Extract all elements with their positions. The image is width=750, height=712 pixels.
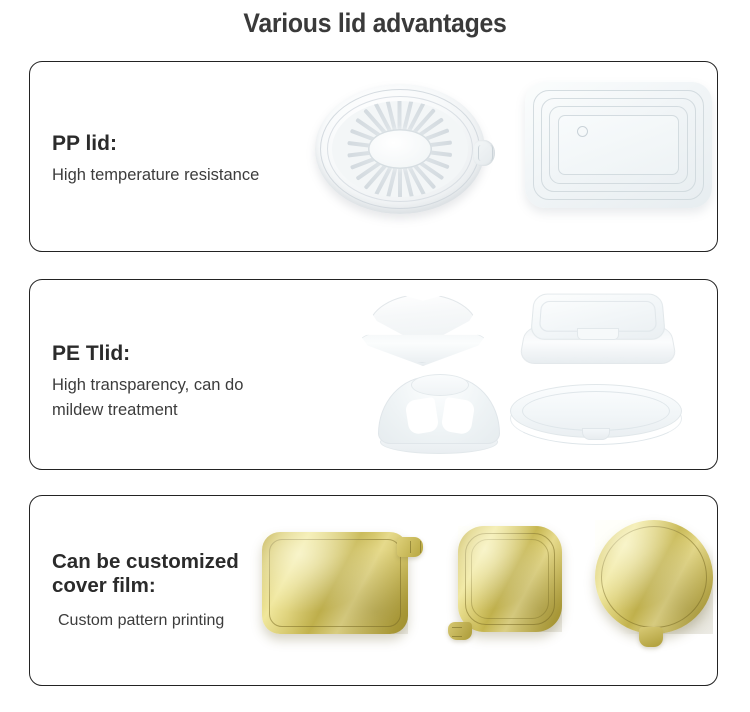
lid-ring-2 — [541, 98, 696, 192]
lid-pull-tab — [473, 140, 495, 166]
foil-sheen — [262, 532, 408, 634]
lid-edge — [510, 392, 682, 445]
lid-top-panel — [530, 294, 666, 340]
lid-ring-3 — [549, 106, 688, 184]
page-title: Various lid advantages — [30, 8, 720, 39]
card-pe-lid-subtitle: High transparency, can do mildew treatme… — [52, 373, 243, 424]
round-ribbed-pp-lid-image — [315, 84, 485, 214]
lid-flat-top — [411, 374, 469, 396]
lid-notch — [577, 328, 619, 340]
dome-cup-pe-lid-image — [378, 376, 498, 454]
gold-rectangular-foil-lid-image — [262, 532, 408, 634]
lid-dome — [368, 294, 478, 346]
card-pe-lid-heading: PE Tlid: — [52, 342, 243, 367]
gold-square-foil-lid-image — [458, 526, 562, 632]
lid-outer-rim — [320, 89, 480, 209]
foil-inner-ring — [601, 526, 707, 628]
card-pp-lid-heading: PP lid: — [52, 132, 259, 157]
card-pp-lid-subtitle: High temperature resistance — [52, 163, 259, 189]
card-pe-lid: PE Tlid: High transparency, can do milde… — [29, 279, 718, 470]
gold-round-foil-lid-image — [595, 520, 713, 634]
lid-skirt — [380, 430, 498, 454]
lid-dome-cap — [378, 376, 500, 444]
card-cover-film-subtitle: Custom pattern printing — [52, 609, 239, 634]
lid-ring-1 — [533, 90, 704, 200]
lid-lip — [364, 346, 480, 363]
lid-face — [510, 384, 682, 438]
foil-sheen — [595, 520, 713, 634]
card-cover-film-heading: Can be customized cover film: — [52, 550, 239, 597]
lid-radial-ribs — [332, 101, 468, 197]
foil-pull-tab — [639, 627, 663, 647]
lid-base — [360, 328, 486, 366]
card-cover-film-text: Can be customized cover film: Custom pat… — [52, 550, 239, 634]
foil-pull-tab — [397, 537, 423, 557]
card-pp-lid-text: PP lid: High temperature resistance — [52, 132, 259, 188]
foil-inner-ring-2 — [471, 539, 549, 619]
card-pp-lid: PP lid: High temperature resistance — [29, 61, 718, 252]
square-pe-lid-image — [522, 292, 672, 366]
rectangular-pp-lid-image — [525, 82, 712, 208]
foil-sheen — [458, 526, 562, 632]
card-pe-lid-text: PE Tlid: High transparency, can do milde… — [52, 342, 243, 424]
foil-inner-ring — [465, 533, 555, 625]
foil-pull-tab — [448, 622, 472, 640]
foil-inner-ring — [269, 539, 401, 627]
oval-pe-lid-image — [510, 384, 680, 448]
lid-tab — [582, 428, 610, 440]
lid-inner-rim — [327, 96, 473, 202]
lid-flange — [518, 326, 677, 364]
heart-shaped-pe-lid-image — [360, 294, 484, 366]
lid-inner-ring — [522, 391, 670, 431]
card-cover-film: Can be customized cover film: Custom pat… — [29, 495, 718, 686]
lid-recycle-mark-icon — [577, 126, 588, 137]
lid-center-panel — [368, 129, 432, 169]
lid-center-panel — [558, 115, 679, 175]
